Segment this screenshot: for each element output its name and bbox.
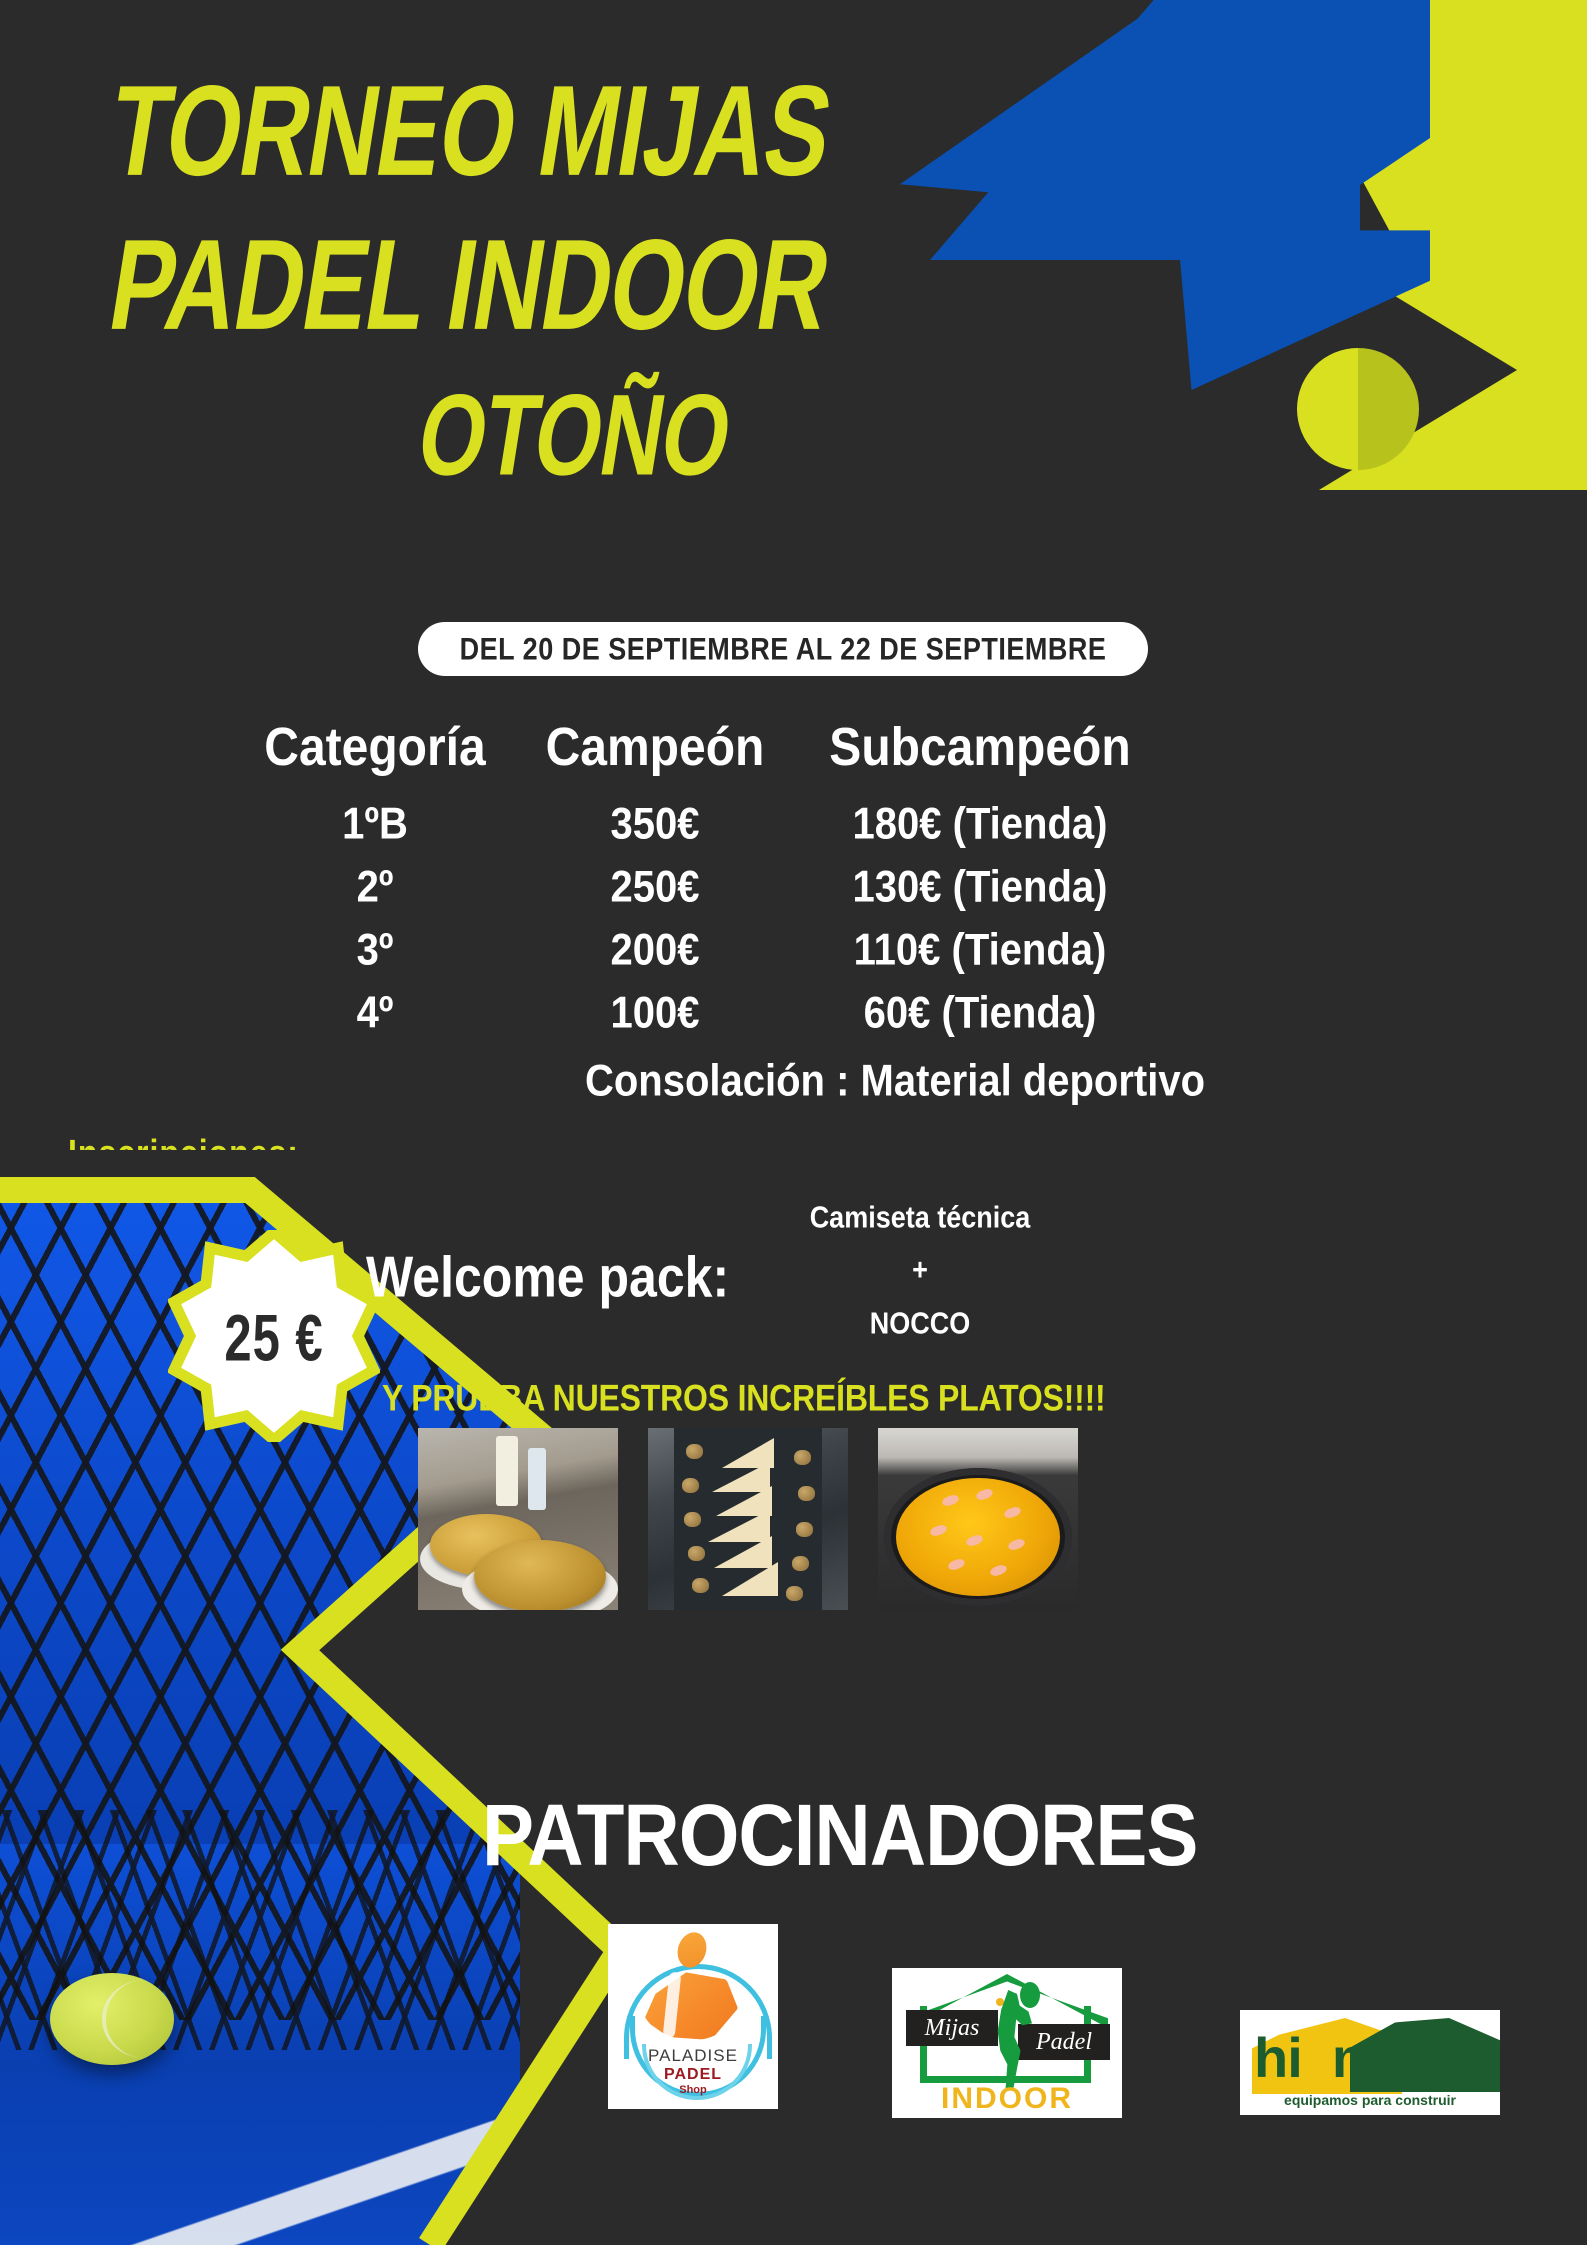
paladise-name-top: PALADISE bbox=[608, 2046, 778, 2066]
table-row: 3º 200€ 110€ (Tienda) bbox=[230, 919, 1390, 982]
col-header-subcampeon: Subcampeón bbox=[790, 717, 1170, 779]
cell-subcampeon: 130€ (Tienda) bbox=[790, 852, 1170, 923]
walnut bbox=[684, 1512, 701, 1527]
prize-table-header: Categoría Campeón Subcampeón bbox=[230, 720, 1390, 775]
hiemo-word-part1: hi bbox=[1254, 2025, 1302, 2090]
bottle-item-2 bbox=[528, 1448, 546, 1510]
bottle-item bbox=[496, 1436, 518, 1506]
poster-title: TORNEO MIJAS PADEL INDOOR OTOÑO bbox=[0, 88, 1300, 476]
mijas-racket-icon bbox=[1020, 1982, 1040, 2008]
cheese-platter-photo bbox=[648, 1428, 848, 1610]
cell-categoria: 1ºB bbox=[230, 789, 520, 860]
walnut bbox=[686, 1444, 703, 1459]
cell-categoria: 3º bbox=[230, 915, 520, 986]
sponsor-logo-paladise[interactable]: PALADISE PADEL Shop bbox=[608, 1924, 778, 2109]
walnut bbox=[794, 1450, 811, 1465]
table-row: 4º 100€ 60€ (Tienda) bbox=[230, 982, 1390, 1045]
tortilla-photo bbox=[418, 1428, 618, 1610]
date-banner-text: DEL 20 DE SEPTIEMBRE AL 22 DE SEPTIEMBRE bbox=[460, 631, 1107, 668]
consolation-note: Consolación : Material deportivo bbox=[230, 1056, 1390, 1106]
paladise-name-bottom: Shop bbox=[608, 2084, 778, 2096]
cell-subcampeon: 60€ (Tienda) bbox=[790, 978, 1170, 1049]
poster-root: TORNEO MIJAS PADEL INDOOR OTOÑO DEL 20 D… bbox=[0, 0, 1587, 2245]
food-headline: Y PRUEBA NUESTROS INCREÍBLES PLATOS!!!! bbox=[382, 1377, 1106, 1420]
pack-item-shirt: Camiseta técnica bbox=[770, 1191, 1070, 1244]
walnut bbox=[692, 1578, 709, 1593]
mijas-word-left: Mijas bbox=[906, 2010, 998, 2046]
walnut bbox=[682, 1478, 699, 1493]
paella-photo bbox=[878, 1428, 1078, 1610]
prize-table: Categoría Campeón Subcampeón 1ºB 350€ 18… bbox=[230, 720, 1390, 1104]
table-row: 1ºB 350€ 180€ (Tienda) bbox=[230, 793, 1390, 856]
walnut bbox=[688, 1546, 705, 1561]
mijas-word-box-left: Mijas bbox=[906, 2010, 998, 2046]
walnut bbox=[792, 1556, 809, 1571]
tennis-ball-icon bbox=[1297, 348, 1419, 470]
title-line-3: OTOÑO bbox=[412, 383, 1309, 489]
paladise-name-mid: PADEL bbox=[608, 2066, 778, 2084]
registration-price-text: 25 € bbox=[168, 1196, 380, 1482]
registration-price-badge: 25 € bbox=[168, 1230, 380, 1442]
mijas-ball-icon bbox=[996, 1998, 1004, 2006]
tortilla-front bbox=[474, 1540, 606, 1610]
hiemo-tagline: equipamos para construir bbox=[1240, 2092, 1500, 2108]
table-row: 2º 250€ 130€ (Tienda) bbox=[230, 856, 1390, 919]
food-photo-row bbox=[418, 1428, 1078, 1610]
walnut bbox=[798, 1486, 815, 1501]
cell-categoria: 4º bbox=[230, 978, 520, 1049]
pack-item-plus: + bbox=[770, 1244, 1070, 1297]
walnut bbox=[786, 1586, 803, 1601]
pack-item-nocco: NOCCO bbox=[770, 1297, 1070, 1350]
hiemo-word-part2: e bbox=[1302, 2025, 1332, 2090]
col-header-categoria: Categoría bbox=[230, 717, 520, 779]
title-line-2: PADEL INDOOR bbox=[103, 227, 1310, 345]
sponsor-logo-hiemo[interactable]: hiemo equipamos para construir bbox=[1240, 2010, 1500, 2115]
walnut bbox=[796, 1522, 813, 1537]
cell-campeon: 250€ bbox=[520, 852, 790, 923]
sponsors-logos: PALADISE PADEL Shop Mijas Padel bbox=[0, 1900, 1587, 2230]
registration-label: Inscripciones: bbox=[68, 1132, 299, 1175]
welcome-pack-heading: Welcome pack: bbox=[366, 1244, 729, 1311]
cell-campeon: 100€ bbox=[520, 978, 790, 1049]
sponsors-title: PATROCINADORES bbox=[482, 1785, 1197, 1887]
cell-campeon: 200€ bbox=[520, 915, 790, 986]
col-header-campeon: Campeón bbox=[520, 717, 790, 779]
cell-campeon: 350€ bbox=[520, 789, 790, 860]
date-banner: DEL 20 DE SEPTIEMBRE AL 22 DE SEPTIEMBRE bbox=[418, 622, 1148, 676]
cell-subcampeon: 110€ (Tienda) bbox=[790, 915, 1170, 986]
cell-categoria: 2º bbox=[230, 852, 520, 923]
yellow-wedge-top-icon bbox=[1265, 0, 1587, 290]
mijas-word-right: Padel bbox=[1018, 2024, 1110, 2060]
cell-subcampeon: 180€ (Tienda) bbox=[790, 789, 1170, 860]
hiemo-wordmark: hiemo bbox=[1254, 2026, 1498, 2088]
hiemo-word-part3: mo bbox=[1332, 2025, 1414, 2090]
sponsor-logo-mijas-padel-indoor[interactable]: Mijas Padel INDOOR bbox=[892, 1968, 1122, 2118]
title-line-1: TORNEO MIJAS bbox=[103, 73, 1310, 191]
welcome-pack-items: Camiseta técnica + NOCCO bbox=[770, 1191, 1070, 1350]
mijas-word-bottom: INDOOR bbox=[892, 2082, 1122, 2116]
mijas-word-box-right: Padel bbox=[1018, 2024, 1110, 2060]
